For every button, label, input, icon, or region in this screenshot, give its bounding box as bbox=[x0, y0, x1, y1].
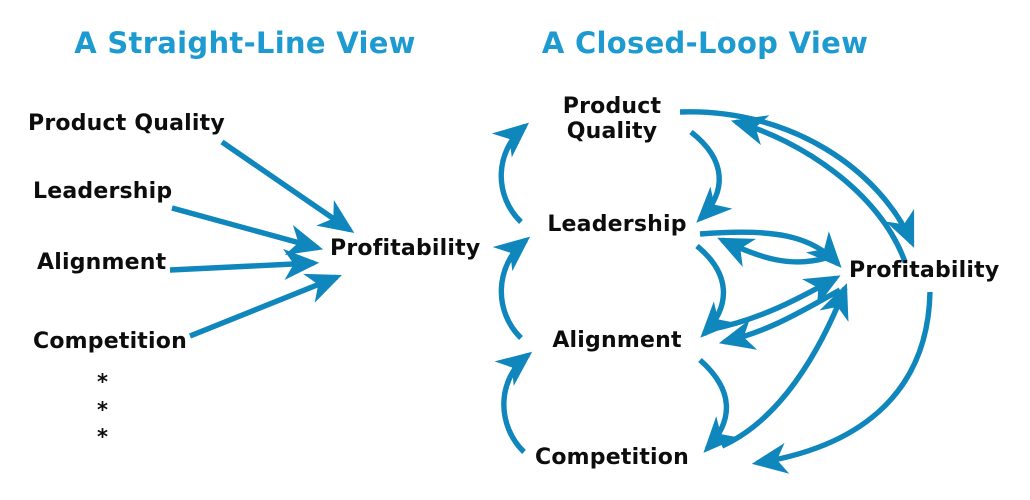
arrow-product-quality-to-profitability bbox=[680, 112, 912, 243]
arrow-competition-to-alignment bbox=[504, 355, 528, 452]
right-label-product-quality-line1: Product bbox=[563, 95, 661, 120]
arrow-alignment-to-profitability bbox=[170, 263, 314, 270]
left-label-competition: Competition bbox=[33, 330, 187, 355]
ellipsis-mark-2: * bbox=[97, 400, 108, 421]
arrow-competition-to-profitability bbox=[722, 288, 845, 446]
arrow-profitability-to-product-quality bbox=[736, 122, 905, 262]
arrow-alignment-to-leadership bbox=[501, 240, 526, 338]
left-label-product-quality: Product Quality bbox=[28, 112, 225, 137]
ellipsis-mark-3: * bbox=[97, 427, 108, 448]
arrow-alignment-to-profitability bbox=[708, 278, 836, 330]
left-panel-arrows bbox=[170, 142, 350, 336]
arrow-leadership-to-profitability bbox=[700, 232, 838, 264]
arrow-alignment-down-to-competition bbox=[700, 360, 726, 449]
right-label-competition: Competition bbox=[535, 446, 689, 471]
left-label-leadership: Leadership bbox=[33, 180, 172, 205]
left-label-alignment: Alignment bbox=[37, 251, 166, 276]
arrow-profitability-to-competition bbox=[757, 292, 930, 463]
left-label-profitability: Profitability bbox=[330, 237, 480, 262]
arrow-leadership-down-to-alignment bbox=[697, 246, 723, 334]
arrow-leadership-to-profitability bbox=[172, 208, 318, 248]
left-panel-title: A Straight-Line View bbox=[74, 26, 416, 60]
arrow-product-quality-down-to-leadership bbox=[691, 132, 719, 219]
right-label-product-quality: Product Quality bbox=[563, 95, 661, 144]
right-label-product-quality-line2: Quality bbox=[563, 120, 661, 145]
arrow-profitability-to-leadership bbox=[722, 240, 826, 262]
right-panel-arrows bbox=[501, 112, 930, 463]
right-label-profitability: Profitability bbox=[849, 259, 999, 284]
diagram-canvas: A Straight-Line View A Closed-Loop View bbox=[0, 0, 1030, 500]
right-label-leadership: Leadership bbox=[547, 213, 686, 238]
arrow-competition-to-profitability bbox=[190, 277, 337, 336]
arrow-product-quality-to-profitability bbox=[222, 142, 350, 230]
arrow-profitability-to-alignment bbox=[724, 290, 840, 342]
right-label-alignment: Alignment bbox=[552, 329, 681, 354]
ellipsis-mark-1: * bbox=[97, 372, 108, 393]
right-panel-title: A Closed-Loop View bbox=[542, 26, 868, 60]
arrow-leadership-to-product-quality bbox=[501, 126, 525, 222]
